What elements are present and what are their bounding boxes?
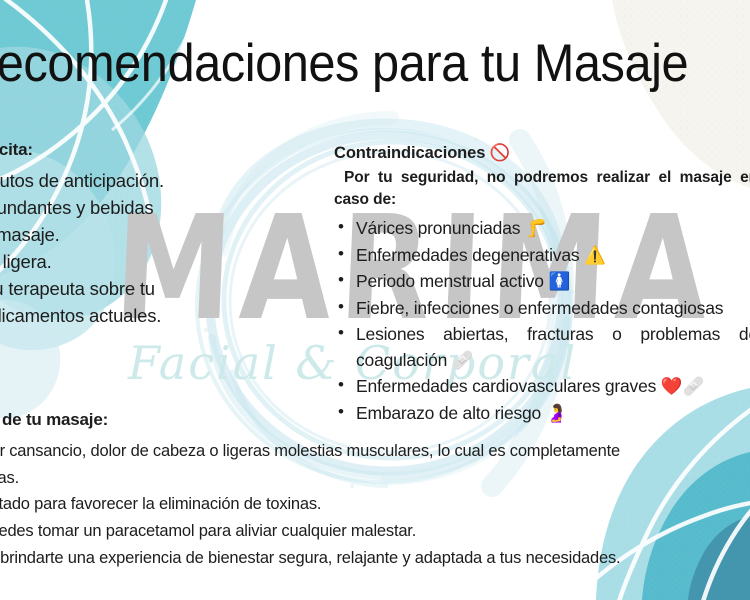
heart-bandage-icon: ❤️🩹 [661, 377, 704, 397]
list-item: Lesiones abiertas, fracturas o problemas… [334, 322, 750, 374]
antes-line-2: comidas abundantes y bebidas [0, 194, 290, 221]
page-title: Recomendaciones para tu Masaje [0, 33, 726, 94]
antes-line-6: salud y medicamentos actuales. [0, 302, 304, 329]
list-item-text: Várices pronunciadas [356, 218, 520, 238]
list-item-text: Enfermedades degenerativas [356, 245, 579, 265]
despues-line-5: ojetivo es brindarte una experiencia de … [0, 545, 750, 572]
poster-content: Recomendaciones para tu Masaje Antes de … [0, 0, 750, 600]
list-item: Enfermedades degenerativas ⚠️ [334, 243, 750, 270]
contraindicaciones-list: Várices pronunciadas 🦵 Enfermedades dege… [334, 216, 750, 428]
despues-heading: Después de tu masaje: [0, 410, 750, 430]
womens-room-icon: 🚺 [548, 272, 570, 292]
contraindicaciones-subheading: Por tu seguridad, no podremos realizar e… [334, 167, 750, 211]
list-item-text: Fiebre, infecciones o enfermedades conta… [356, 298, 723, 318]
section-antes-de-tu-cita: Antes de tu cita: on 5-10 minutos de ant… [0, 140, 304, 329]
list-item-text: Lesiones abiertas, fracturas o problemas… [356, 324, 750, 370]
despues-line-1: perimentar cansancio, dolor de cabeza o … [0, 438, 750, 465]
list-item: Fiebre, infecciones o enfermedades conta… [334, 296, 750, 322]
list-item-text: Enfermedades cardiovasculares graves [356, 376, 656, 396]
list-item: Várices pronunciadas 🦵 [334, 216, 750, 243]
section-contraindicaciones: Contraindicaciones 🚫 Por tu seguridad, n… [334, 143, 750, 428]
antes-line-1: on 5-10 minutos de anticipación. [0, 167, 304, 194]
antes-line-5: siempre a tu terapeuta sobre tu [0, 275, 290, 302]
despues-line-4: esario, puedes tomar un paracetamol para… [0, 518, 750, 545]
list-item-text: Periodo menstrual activo [356, 271, 544, 291]
antes-line-3: s antes del masaje. [0, 221, 304, 248]
section-despues-de-tu-masaje: Después de tu masaje: perimentar cansanc… [0, 410, 750, 572]
adhesive-bandage-icon: 🩹 [452, 351, 474, 371]
despues-line-2: n de toxinas. [0, 465, 750, 492]
contraindicaciones-heading-row: Contraindicaciones 🚫 [334, 143, 750, 163]
antes-de-tu-cita-heading: Antes de tu cita: [0, 140, 304, 160]
list-item: Enfermedades cardiovasculares graves ❤️🩹 [334, 374, 750, 401]
poster-canvas: MARIMA Facial & Corporal Recomendaciones… [0, 0, 750, 600]
leg-icon: 🦵 [525, 219, 547, 239]
list-item: Periodo menstrual activo 🚺 [334, 269, 750, 296]
warning-icon: ⚠️ [584, 246, 606, 266]
despues-line-3: bien hidratado para favorecer la elimina… [0, 491, 750, 518]
contraindicaciones-heading: Contraindicaciones [334, 144, 485, 162]
prohibited-sign-icon: 🚫 [490, 143, 510, 162]
antes-line-4: a cómoda y ligera. [0, 248, 304, 275]
